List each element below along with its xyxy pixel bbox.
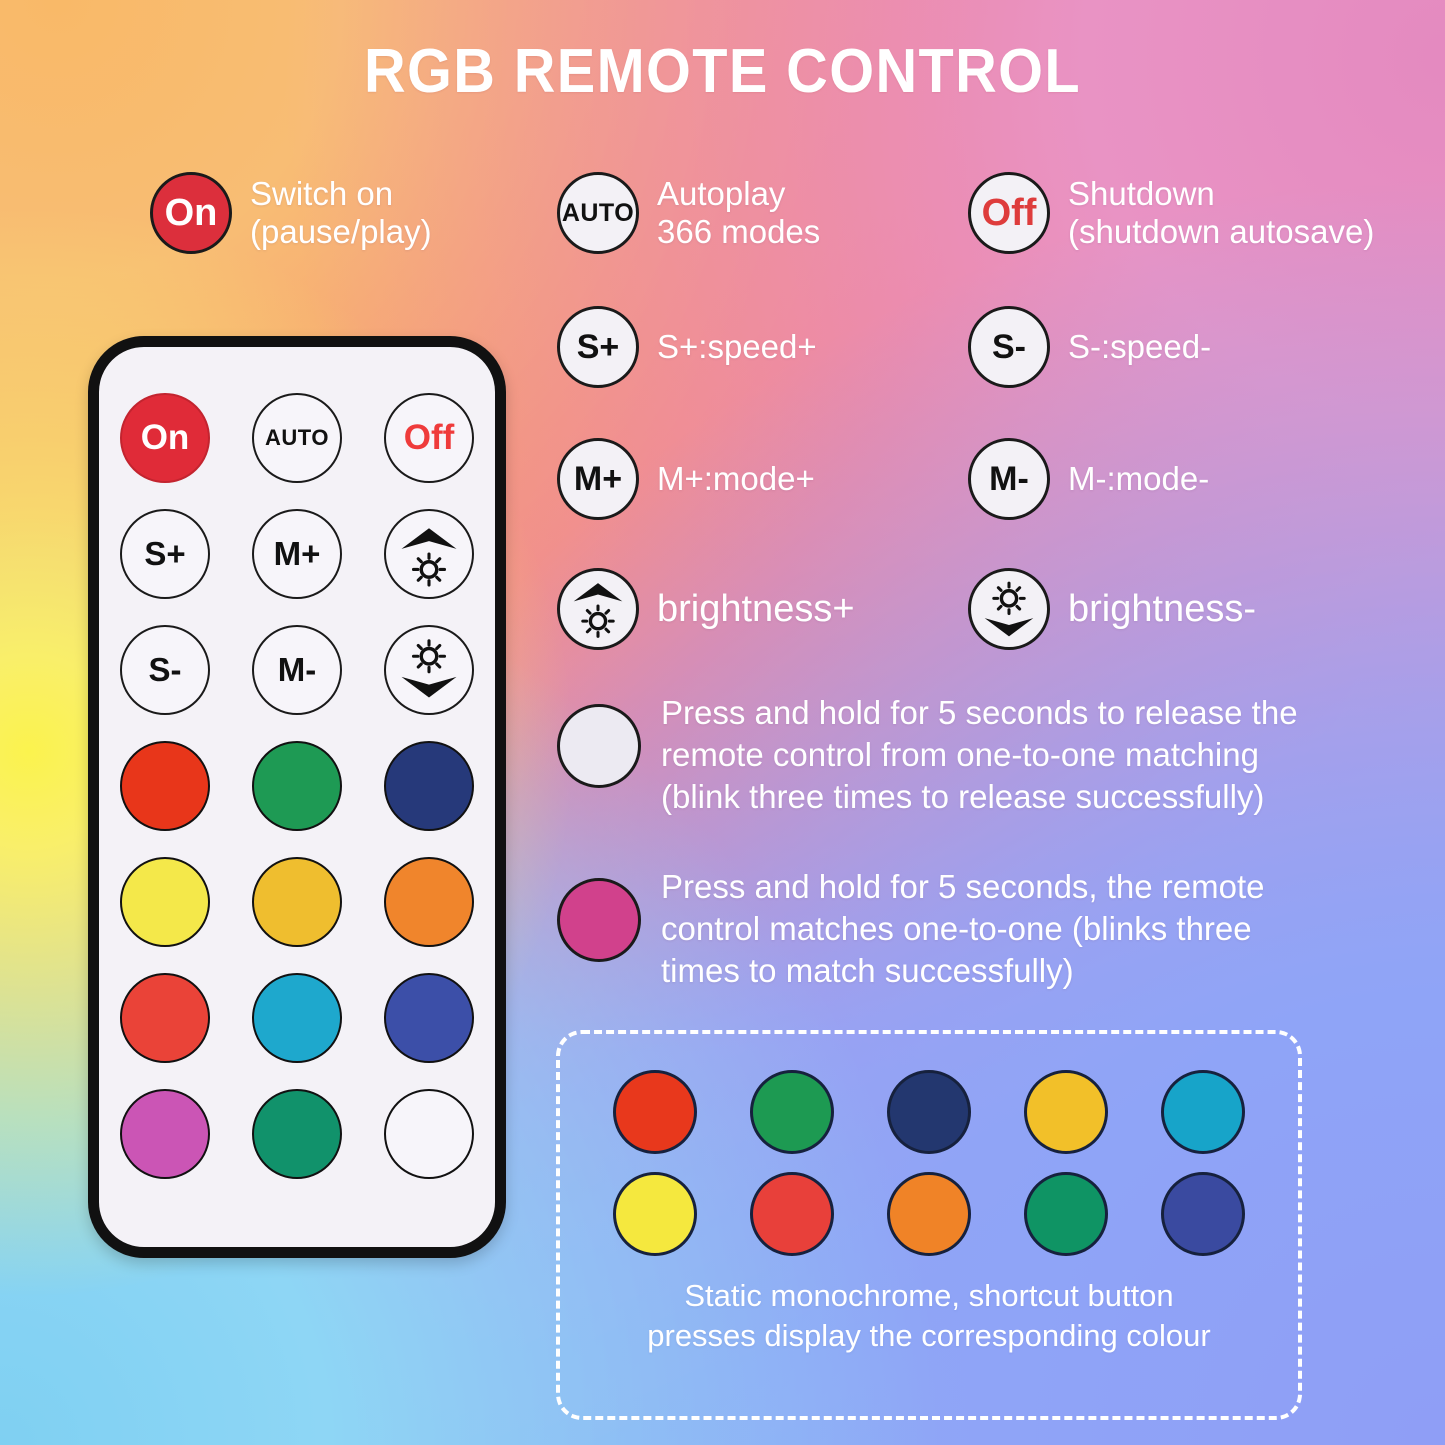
remote-button-mode-up[interactable]: M+ [252, 509, 342, 599]
shortcut-swatch-teal[interactable] [1024, 1172, 1108, 1256]
mode-plus-badge[interactable]: M+ [557, 438, 639, 520]
remote-color-white[interactable] [384, 1089, 474, 1179]
brightness-down-label: brightness- [1068, 587, 1256, 631]
remote-color-magenta[interactable] [120, 1089, 210, 1179]
shortcut-swatch-gold[interactable] [1024, 1070, 1108, 1154]
remote-button-mode-down[interactable]: M- [252, 625, 342, 715]
legend-item-mode-plus[interactable]: M+ M+:mode+ [557, 438, 815, 520]
match-pairing-text: Press and hold for 5 seconds, the remote… [661, 866, 1265, 993]
shortcut-swatch-orange[interactable] [887, 1172, 971, 1256]
legend-item-speed-plus[interactable]: S+ S+:speed+ [557, 306, 817, 388]
speed-plus-badge[interactable]: S+ [557, 306, 639, 388]
auto-badge[interactable]: AUTO [557, 172, 639, 254]
remote-button-brightness-up[interactable] [384, 509, 474, 599]
poster-background: RGB REMOTE CONTROL On Switch on (pause/p… [0, 0, 1445, 1445]
remote-color-gold[interactable] [252, 857, 342, 947]
remote-button-off[interactable]: Off [384, 393, 474, 483]
shortcut-swatch-yellow[interactable] [613, 1172, 697, 1256]
release-pairing-text: Press and hold for 5 seconds to release … [661, 692, 1298, 819]
speed-minus-badge[interactable]: S- [968, 306, 1050, 388]
brightness-up-icon [560, 571, 636, 647]
legend-item-brightness-minus[interactable]: brightness- [968, 568, 1256, 650]
mode-plus-label: M+:mode+ [657, 460, 815, 498]
brightness-up-label: brightness+ [657, 587, 855, 631]
shortcut-swatch-indigo[interactable] [1161, 1172, 1245, 1256]
remote-button-speed-down[interactable]: S- [120, 625, 210, 715]
brightness-down-icon [971, 571, 1047, 647]
note-match-pairing: Press and hold for 5 seconds, the remote… [557, 866, 1317, 993]
shortcut-swatch-cyan[interactable] [1161, 1070, 1245, 1154]
off-label: Shutdown (shutdown autosave) [1068, 175, 1374, 252]
remote-button-grid: On AUTO Off S+ M+ [99, 347, 495, 1179]
auto-label: Autoplay 366 modes [657, 175, 820, 252]
remote-color-green[interactable] [252, 741, 342, 831]
brightness-up-badge[interactable] [557, 568, 639, 650]
match-pairing-swatch[interactable] [557, 878, 641, 962]
remote-color-orange[interactable] [384, 857, 474, 947]
shortcut-caption: Static monochrome, shortcut button press… [560, 1276, 1298, 1355]
remote-control-device: On AUTO Off S+ M+ [88, 336, 506, 1258]
legend-item-on[interactable]: On Switch on (pause/play) [150, 172, 432, 254]
remote-color-navy[interactable] [384, 741, 474, 831]
on-badge[interactable]: On [150, 172, 232, 254]
legend-item-mode-minus[interactable]: M- M-:mode- [968, 438, 1209, 520]
note-release-pairing: Press and hold for 5 seconds to release … [557, 692, 1317, 819]
legend-item-off[interactable]: Off Shutdown (shutdown autosave) [968, 172, 1374, 254]
mode-minus-label: M-:mode- [1068, 460, 1209, 498]
release-pairing-swatch[interactable] [557, 704, 641, 788]
speed-plus-label: S+:speed+ [657, 328, 817, 366]
remote-button-on[interactable]: On [120, 393, 210, 483]
remote-color-yellow[interactable] [120, 857, 210, 947]
shortcut-swatch-grid [560, 1070, 1298, 1256]
remote-color-red[interactable] [120, 741, 210, 831]
remote-color-red2[interactable] [120, 973, 210, 1063]
on-label: Switch on (pause/play) [250, 175, 432, 252]
remote-color-cyan[interactable] [252, 973, 342, 1063]
shortcut-color-panel: Static monochrome, shortcut button press… [556, 1030, 1302, 1420]
brightness-down-icon [386, 627, 472, 713]
legend-item-auto[interactable]: AUTO Autoplay 366 modes [557, 172, 820, 254]
legend-item-brightness-plus[interactable]: brightness+ [557, 568, 855, 650]
remote-button-speed-up[interactable]: S+ [120, 509, 210, 599]
shortcut-swatch-navy[interactable] [887, 1070, 971, 1154]
speed-minus-label: S-:speed- [1068, 328, 1211, 366]
page-title: RGB REMOTE CONTROL [51, 36, 1395, 107]
shortcut-swatch-green[interactable] [750, 1070, 834, 1154]
shortcut-swatch-red2[interactable] [750, 1172, 834, 1256]
brightness-up-icon [386, 511, 472, 597]
shortcut-swatch-red[interactable] [613, 1070, 697, 1154]
remote-button-auto[interactable]: AUTO [252, 393, 342, 483]
remote-color-teal[interactable] [252, 1089, 342, 1179]
mode-minus-badge[interactable]: M- [968, 438, 1050, 520]
off-badge[interactable]: Off [968, 172, 1050, 254]
remote-button-brightness-down[interactable] [384, 625, 474, 715]
legend-item-speed-minus[interactable]: S- S-:speed- [968, 306, 1211, 388]
remote-color-indigo[interactable] [384, 973, 474, 1063]
brightness-down-badge[interactable] [968, 568, 1050, 650]
